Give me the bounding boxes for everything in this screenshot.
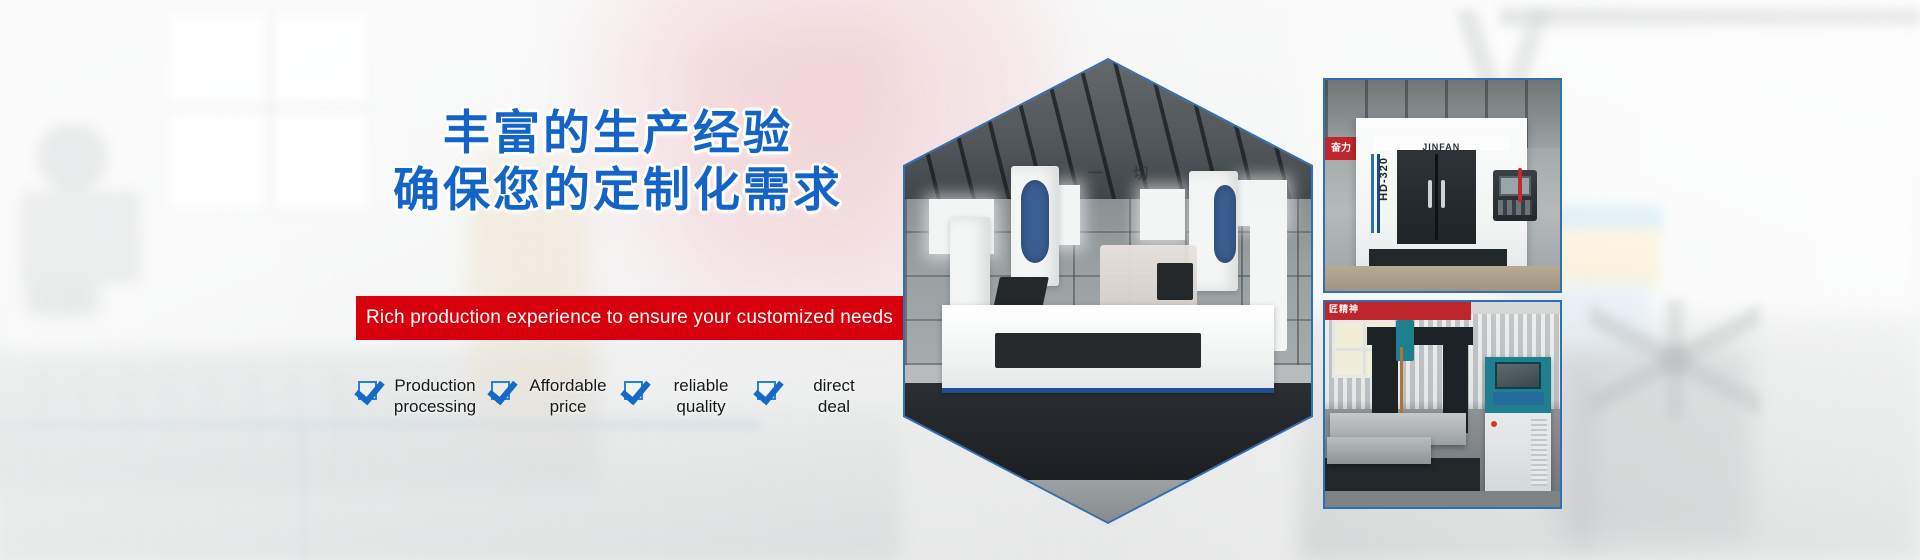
- feature-item-reliable-quality[interactable]: reliable quality: [624, 375, 757, 417]
- machine-model-label: HD-320: [1378, 157, 1390, 201]
- feature-item-direct-deal[interactable]: direct deal: [757, 375, 890, 417]
- factory-floor: [905, 480, 1311, 522]
- photo-floor: [1325, 491, 1560, 507]
- headline: 丰富的生产经验 确保您的定制化需求: [328, 104, 908, 218]
- warning-strip: [1518, 168, 1522, 201]
- feature-list: Production processing Affordable price r…: [358, 375, 890, 417]
- control-screen: [1495, 362, 1541, 389]
- control-keypad: [1498, 200, 1532, 215]
- control-cabinet-head: [1485, 357, 1551, 413]
- feature-label-line-2: processing: [394, 397, 476, 416]
- hexagon-photo: 定 一 切: [903, 58, 1313, 524]
- checkbox-checked-icon: [624, 381, 643, 400]
- checkbox-checked-icon: [491, 381, 510, 400]
- hexagon-border: 定 一 切: [903, 58, 1313, 524]
- door-handle: [1441, 180, 1445, 208]
- edm-wire: [1400, 347, 1403, 421]
- control-screen: [1499, 176, 1531, 197]
- machine-photo-edm: 匠精神: [1323, 300, 1562, 509]
- control-keypad: [1493, 392, 1544, 405]
- door-handle: [1428, 180, 1432, 208]
- emergency-stop-button: [1491, 421, 1497, 427]
- feature-label-line-1: Affordable: [529, 376, 606, 395]
- cabinet-vent: [1531, 419, 1547, 486]
- machine-stripe: [1371, 154, 1374, 233]
- wall-banner-text: 奋力: [1331, 139, 1351, 154]
- headline-line-1: 丰富的生产经验: [328, 104, 908, 161]
- machine-arm: [1157, 263, 1194, 300]
- feature-label: Affordable price: [520, 375, 616, 417]
- feature-item-affordable-price[interactable]: Affordable price: [491, 375, 624, 417]
- feature-label-line-1: reliable: [674, 376, 729, 395]
- photo-floor: [1325, 266, 1560, 291]
- subtitle-text: Rich production experience to ensure you…: [366, 307, 893, 329]
- subtitle-bar: Rich production experience to ensure you…: [356, 296, 903, 340]
- checkbox-checked-icon: [757, 381, 776, 400]
- feature-label-line-1: direct: [813, 376, 855, 395]
- checkbox-checked-icon: [358, 381, 377, 400]
- machine-head-teal: [1396, 320, 1415, 361]
- machine-panel-left: [1021, 180, 1049, 263]
- machine-photo-hd320: 奋力 JINFAN HD-320: [1323, 78, 1562, 293]
- machine-table-lower: [1327, 437, 1430, 464]
- machine-door: [1397, 150, 1476, 244]
- feature-label-line-2: quality: [676, 397, 725, 416]
- feature-label-line-2: price: [550, 397, 587, 416]
- control-pendant: [1493, 170, 1538, 222]
- factory-wall-text: 定 一 切: [1043, 162, 1161, 183]
- feature-label: reliable quality: [653, 375, 749, 417]
- machine-plinth: [1369, 249, 1506, 267]
- machine-bed: [942, 305, 1275, 393]
- feature-label-line-2: deal: [818, 397, 850, 416]
- feature-label: Production processing: [387, 375, 483, 417]
- control-cabinet: [1485, 357, 1551, 496]
- wall-banner-text: 匠精神: [1329, 302, 1359, 315]
- feature-label: direct deal: [786, 375, 882, 417]
- feature-label-line-1: Production: [394, 376, 475, 395]
- machine-body: JINFAN HD-320: [1356, 118, 1528, 270]
- feature-item-production-processing[interactable]: Production processing: [358, 375, 491, 417]
- hexagon-photo-content: 定 一 切: [905, 60, 1311, 522]
- headline-line-2: 确保您的定制化需求: [328, 161, 908, 218]
- factory-window: [1140, 189, 1185, 240]
- machine-panel-right: [1214, 185, 1236, 264]
- promo-banner: 丰富的生产经验 确保您的定制化需求 Rich production experi…: [0, 0, 1920, 560]
- wall-banner: 匠精神: [1325, 302, 1471, 320]
- machine-crossbeam: [1367, 327, 1473, 345]
